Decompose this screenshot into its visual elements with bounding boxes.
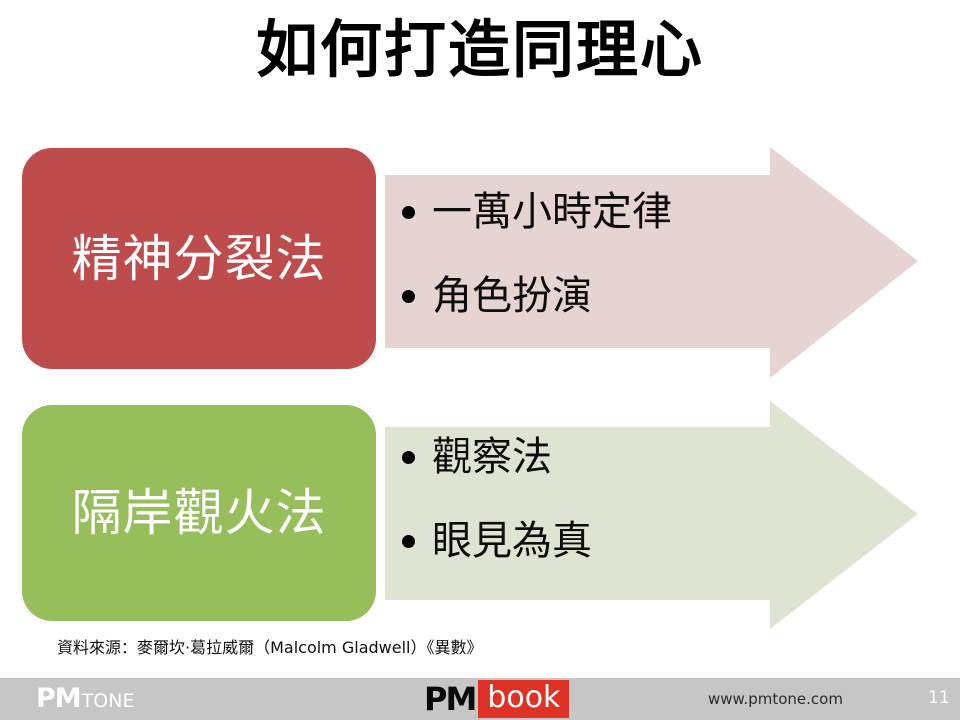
source-note: 資料來源：麥爾坎·葛拉威爾（Malcolm Gladwell）《異數》 bbox=[57, 637, 482, 659]
list-item: 一萬小時定律 bbox=[398, 188, 672, 236]
pmtone-logo-word: TONE bbox=[82, 686, 135, 716]
bullet-list-green: 觀察法 眼見為真 bbox=[398, 433, 592, 601]
page-title: 如何打造同理心 bbox=[0, 8, 960, 92]
bullet-text: 觀察法 bbox=[432, 434, 552, 480]
page-number: 11 bbox=[928, 688, 950, 708]
list-item: 觀察法 bbox=[398, 433, 592, 481]
bullet-text: 角色扮演 bbox=[432, 273, 592, 319]
bullet-dot-icon bbox=[402, 535, 415, 548]
bullet-dot-icon bbox=[402, 206, 415, 219]
footer-bar: PM TONE PM book www.pmtone.com 11 bbox=[0, 678, 960, 720]
method-box-red[interactable]: 精神分裂法 bbox=[22, 148, 376, 369]
bullet-dot-icon bbox=[402, 290, 415, 303]
list-item: 眼見為真 bbox=[398, 517, 592, 565]
pmbook-logo-badge: book bbox=[478, 680, 569, 718]
bullet-list-red: 一萬小時定律 角色扮演 bbox=[398, 188, 672, 356]
pmtone-logo: PM TONE bbox=[36, 684, 134, 714]
method-label-red: 精神分裂法 bbox=[72, 231, 327, 287]
bullet-text: 眼見為真 bbox=[432, 518, 592, 564]
pmbook-logo-mark: PM bbox=[424, 682, 475, 716]
method-box-green[interactable]: 隔岸觀火法 bbox=[22, 405, 376, 621]
list-item: 角色扮演 bbox=[398, 272, 672, 320]
method-label-green: 隔岸觀火法 bbox=[72, 485, 327, 541]
footer-url[interactable]: www.pmtone.com bbox=[708, 690, 843, 708]
bullet-dot-icon bbox=[402, 451, 415, 464]
bullet-text: 一萬小時定律 bbox=[432, 189, 672, 235]
slide-canvas: 如何打造同理心 精神分裂法 一萬小時定律 角色扮演 隔岸觀火法 bbox=[0, 0, 960, 720]
pmtone-logo-mark: PM bbox=[36, 684, 81, 714]
pmbook-logo: PM book bbox=[424, 681, 569, 717]
